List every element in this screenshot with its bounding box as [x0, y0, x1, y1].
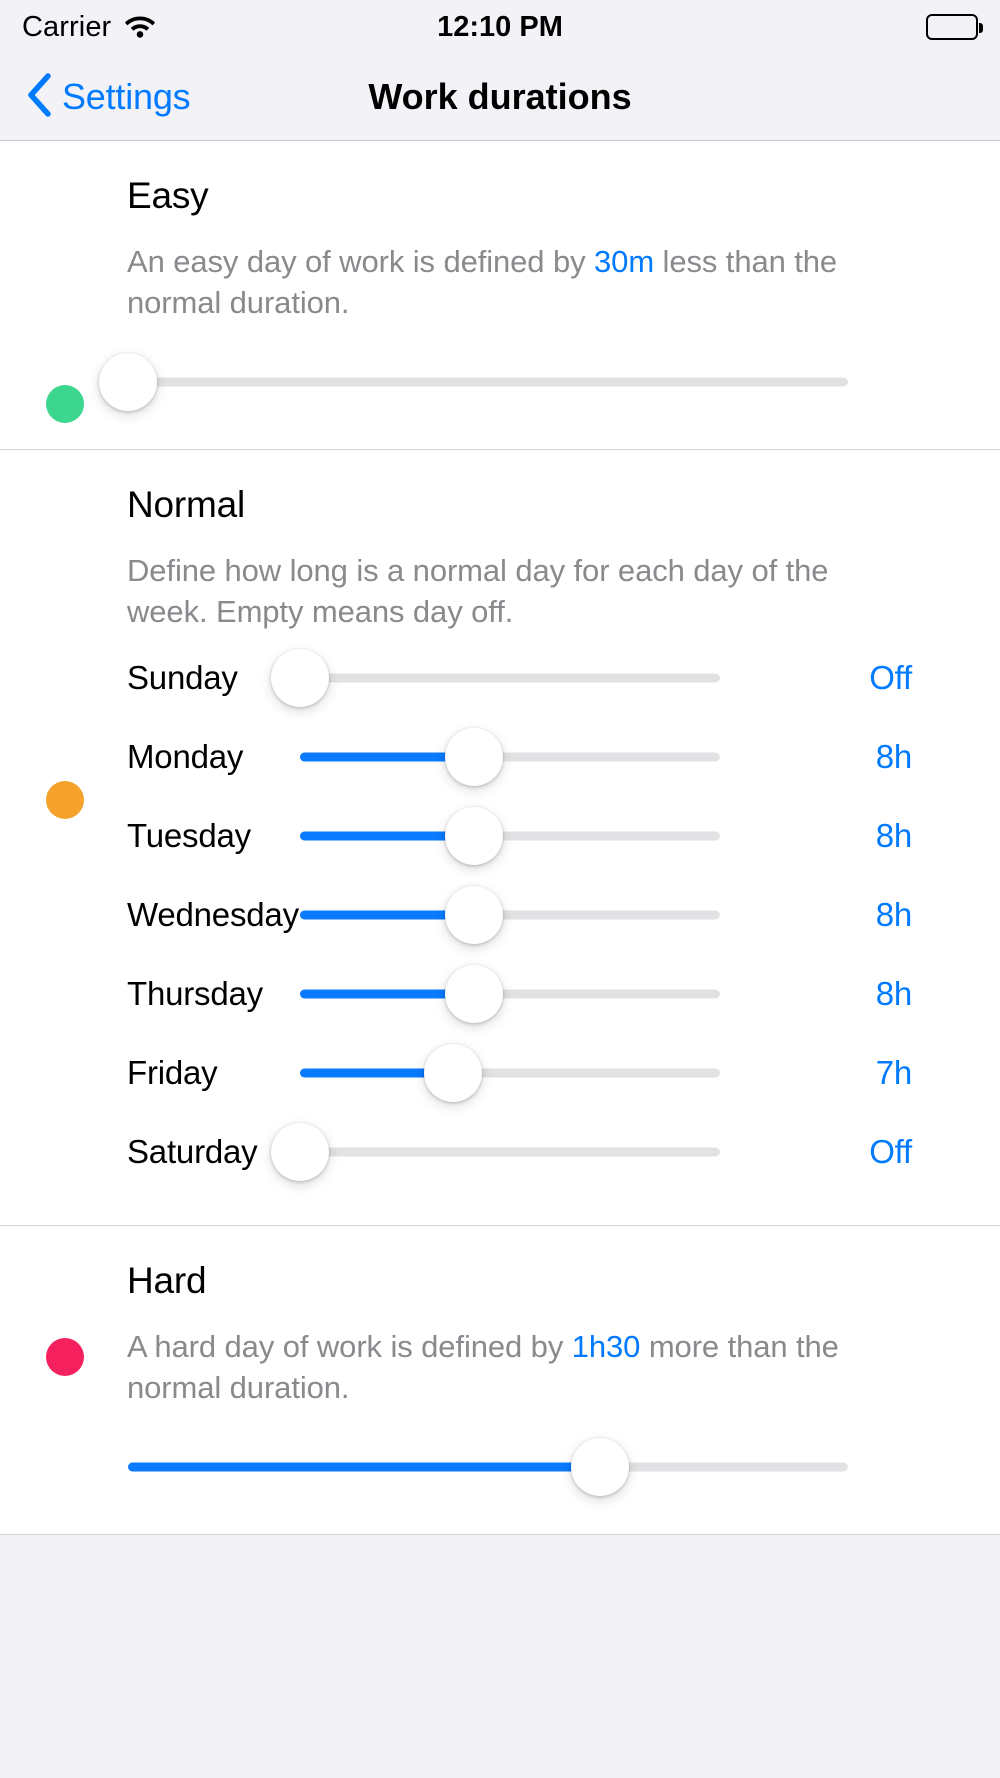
day-value: 8h [842, 975, 912, 1013]
status-bar: Carrier 12:10 PM [0, 0, 1000, 54]
day-slider-thumb[interactable] [445, 728, 503, 786]
day-slider-thumb[interactable] [445, 965, 503, 1023]
normal-status-dot [46, 781, 84, 819]
section-normal: Normal Define how long is a normal day f… [0, 450, 1000, 1226]
day-row: Monday8h [0, 717, 1000, 796]
day-row: Tuesday8h [0, 796, 1000, 875]
day-value: Off [842, 659, 912, 697]
day-value: 8h [842, 896, 912, 934]
hard-duration-value[interactable]: 1h30 [572, 1329, 641, 1364]
day-label: Tuesday [127, 817, 300, 855]
hard-slider-fill [128, 1463, 600, 1472]
day-row: Wednesday8h [0, 875, 1000, 954]
hard-description-before: A hard day of work is defined by [127, 1329, 572, 1364]
day-slider[interactable] [300, 1036, 720, 1110]
day-row: Friday7h [0, 1033, 1000, 1112]
section-easy: Easy An easy day of work is defined by 3… [0, 141, 1000, 450]
day-label: Wednesday [127, 896, 300, 934]
back-button-label: Settings [62, 76, 190, 118]
normal-title: Normal [127, 450, 1000, 526]
day-slider-thumb[interactable] [271, 649, 329, 707]
day-slider-thumb[interactable] [424, 1044, 482, 1102]
easy-description: An easy day of work is defined by 30m le… [127, 241, 848, 323]
back-button[interactable]: Settings [0, 73, 190, 122]
hard-slider[interactable] [128, 1430, 848, 1504]
easy-slider-thumb[interactable] [99, 353, 157, 411]
day-label: Thursday [127, 975, 300, 1013]
easy-slider[interactable] [128, 345, 848, 419]
day-rows-list: SundayOffMonday8hTuesday8hWednesday8hThu… [0, 632, 1000, 1225]
wifi-icon [123, 12, 157, 43]
day-slider[interactable] [300, 720, 720, 794]
day-slider[interactable] [300, 878, 720, 952]
day-slider-track[interactable] [300, 1147, 720, 1156]
easy-title: Easy [127, 141, 1000, 217]
day-value: 8h [842, 817, 912, 855]
day-slider[interactable] [300, 957, 720, 1031]
day-slider[interactable] [300, 1115, 720, 1189]
day-value: 8h [842, 738, 912, 776]
battery-full-icon [926, 14, 978, 40]
day-row: Thursday8h [0, 954, 1000, 1033]
easy-slider-track[interactable] [128, 378, 848, 387]
day-label: Monday [127, 738, 300, 776]
day-slider-thumb[interactable] [445, 807, 503, 865]
day-value: Off [842, 1133, 912, 1171]
easy-status-dot [46, 385, 84, 423]
day-label: Friday [127, 1054, 300, 1092]
status-bar-right [926, 14, 978, 40]
hard-slider-thumb[interactable] [571, 1438, 629, 1496]
day-row: SaturdayOff [0, 1112, 1000, 1191]
easy-description-before: An easy day of work is defined by [127, 244, 594, 279]
chevron-left-icon [26, 73, 52, 122]
hard-status-dot [46, 1338, 84, 1376]
status-bar-left: Carrier [22, 11, 157, 44]
page-footer-area [0, 1535, 1000, 1778]
navigation-bar: Settings Work durations [0, 54, 1000, 141]
normal-description: Define how long is a normal day for each… [127, 550, 848, 632]
day-slider[interactable] [300, 799, 720, 873]
day-slider-thumb[interactable] [445, 886, 503, 944]
app-screen: Carrier 12:10 PM Settings [0, 0, 1000, 1778]
hard-title: Hard [127, 1226, 1000, 1302]
day-row: SundayOff [0, 638, 1000, 717]
carrier-label: Carrier [22, 11, 111, 44]
day-value: 7h [842, 1054, 912, 1092]
easy-duration-value[interactable]: 30m [594, 244, 654, 279]
hard-description: A hard day of work is defined by 1h30 mo… [127, 1326, 848, 1408]
day-slider-track[interactable] [300, 673, 720, 682]
day-slider[interactable] [300, 641, 720, 715]
day-slider-thumb[interactable] [271, 1123, 329, 1181]
section-hard: Hard A hard day of work is defined by 1h… [0, 1226, 1000, 1535]
